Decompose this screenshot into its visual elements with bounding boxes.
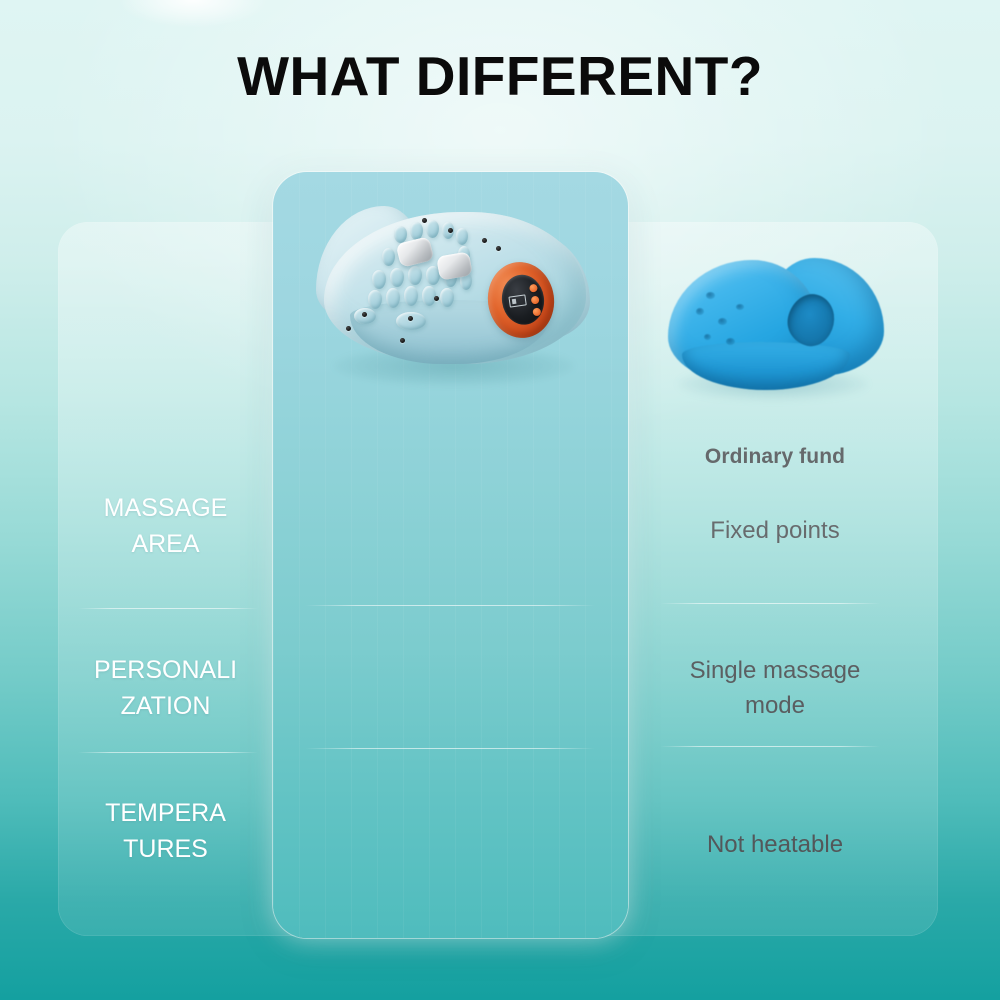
sensor-dot — [496, 246, 501, 251]
ordinary-neck-stretcher-image — [660, 246, 890, 406]
sensor-dot — [434, 296, 439, 301]
massage-nub — [408, 266, 422, 285]
display-screen — [499, 272, 548, 327]
massage-nub — [390, 268, 404, 287]
premium-neck-massager-image — [310, 196, 600, 396]
row-divider — [305, 605, 595, 606]
row-divider — [78, 752, 258, 753]
control-button[interactable] — [532, 307, 541, 316]
page-title: WHAT DIFFERENT? — [0, 44, 1000, 108]
massage-nub — [396, 312, 426, 330]
massage-nub — [426, 220, 439, 238]
sensor-dot — [400, 338, 405, 343]
sensor-dot — [362, 312, 367, 317]
massage-nub — [404, 286, 418, 306]
product-dimple — [718, 318, 727, 325]
sensor-dot — [346, 326, 351, 331]
sensor-dot — [448, 228, 453, 233]
product-dimple — [704, 334, 711, 340]
massage-nub — [456, 228, 468, 245]
massage-nub — [394, 226, 407, 243]
display-readout — [508, 294, 526, 307]
row-divider — [78, 608, 258, 609]
sensor-dot — [408, 316, 413, 321]
card-glint — [118, 0, 268, 28]
control-button[interactable] — [531, 296, 540, 305]
product-dimple — [706, 292, 715, 299]
sensor-dot — [422, 218, 427, 223]
row-divider — [305, 748, 595, 749]
product-dimple — [696, 308, 704, 315]
comparison-poster: WHAT DIFFERENT? — [0, 0, 1000, 1000]
product-dimple — [736, 304, 744, 310]
sensor-dot — [482, 238, 487, 243]
control-button[interactable] — [529, 284, 538, 293]
massage-nub — [382, 248, 395, 266]
row-divider — [660, 746, 880, 747]
massage-nub — [386, 288, 400, 308]
product-dimple — [726, 338, 735, 345]
massage-nub — [440, 288, 454, 307]
massage-nub — [368, 290, 382, 309]
massage-nub — [372, 270, 386, 289]
row-divider — [660, 603, 880, 604]
